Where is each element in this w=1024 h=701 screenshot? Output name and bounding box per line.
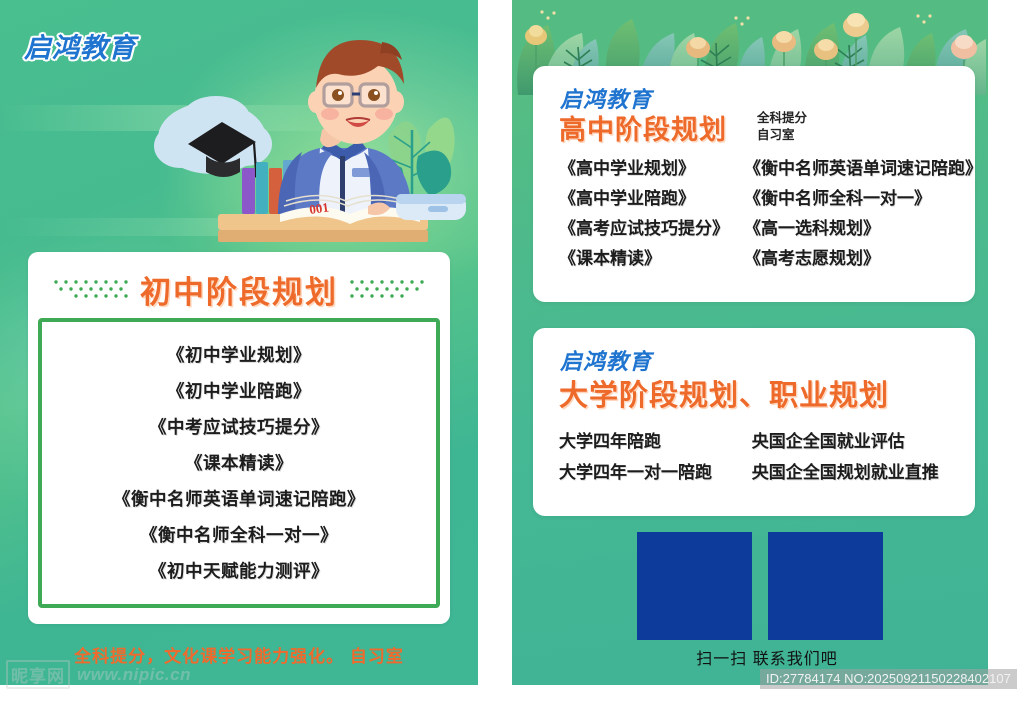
list-item: 《初中学业陪跑》 — [167, 374, 311, 408]
high-school-course-columns: 《高中学业规划》 《高中学业陪跑》 《高考应试技巧提分》 《课本精读》 《衡中名… — [559, 154, 959, 274]
left-poster-panel: 启鸿教育 — [0, 0, 478, 685]
list-item: 大学四年一对一陪跑 — [559, 457, 752, 488]
pencil-case-icon — [396, 194, 466, 220]
list-item: 《高中学业陪跑》 — [559, 184, 744, 214]
qr-code-1[interactable] — [637, 532, 752, 640]
list-item: 《初中天赋能力测评》 — [149, 554, 329, 588]
university-heading: 大学阶段规划、职业规划 — [559, 372, 889, 414]
watermark-mark: 昵享网 — [6, 660, 70, 689]
dots-decoration-right-icon — [348, 276, 426, 302]
list-item: 《高考应试技巧提分》 — [559, 214, 744, 244]
qr-code-2[interactable] — [768, 532, 883, 640]
student-illustration-svg: 001 — [150, 18, 478, 258]
list-item: 央国企全国规划就业直推 — [752, 457, 959, 488]
course-column-left: 大学四年陪跑 大学四年一对一陪跑 — [559, 426, 752, 488]
list-item: 《衡中名师全科一对一》 — [140, 518, 338, 552]
site-watermark: 昵享网 www.nipic.cn — [6, 660, 191, 689]
qr-caption: 扫一扫 联系我们吧 — [637, 645, 897, 669]
desk-edge — [218, 230, 428, 242]
list-item: 《衡中名师英语单词速记陪跑》 — [744, 154, 959, 184]
qr-code-group — [637, 532, 883, 640]
list-item: 《高中学业规划》 — [559, 154, 744, 184]
list-item: 央国企全国就业评估 — [752, 426, 959, 457]
svg-text:001: 001 — [308, 199, 329, 217]
list-item: 《衡中名师全科一对一》 — [744, 184, 959, 214]
course-column-left: 《高中学业规划》 《高中学业陪跑》 《高考应试技巧提分》 《课本精读》 — [559, 154, 744, 274]
brand-logo-text: 启鸿教育 — [24, 26, 136, 65]
list-item: 大学四年陪跑 — [559, 426, 752, 457]
university-card: 启鸿教育 大学阶段规划、职业规划 大学四年陪跑 大学四年一对一陪跑 央国企全国就… — [533, 328, 975, 516]
image-id-tag: ID:27784174 NO:20250921150228402107 — [760, 669, 1017, 689]
high-school-card: 启鸿教育 高中阶段规划 全科提分 自习室 《高中学业规划》 《高中学业陪跑》 《… — [533, 66, 975, 302]
high-school-heading: 高中阶段规划 — [559, 108, 727, 147]
poster-stage: 启鸿教育 — [0, 0, 1024, 701]
student-illustration: 001 — [150, 18, 478, 258]
junior-high-course-list: 《初中学业规划》 《初中学业陪跑》 《中考应试技巧提分》 《课本精读》 《衡中名… — [38, 318, 440, 608]
page-title: 初中阶段规划 — [140, 267, 338, 312]
dots-decoration-left-icon — [52, 276, 130, 302]
list-item: 《初中学业规划》 — [167, 338, 311, 372]
high-school-subtext: 全科提分 自习室 — [757, 110, 807, 144]
university-course-columns: 大学四年陪跑 大学四年一对一陪跑 央国企全国就业评估 央国企全国规划就业直推 — [559, 426, 959, 488]
list-item: 《高考志愿规划》 — [744, 244, 959, 274]
list-item: 《衡中名师英语单词速记陪跑》 — [113, 482, 365, 516]
list-item: 《课本精读》 — [185, 446, 293, 480]
list-item: 《高一选科规划》 — [744, 214, 959, 244]
course-column-right: 央国企全国就业评估 央国企全国规划就业直推 — [752, 426, 959, 488]
watermark-url: www.nipic.cn — [77, 665, 191, 685]
right-poster-panel: 启鸿教育 高中阶段规划 全科提分 自习室 《高中学业规划》 《高中学业陪跑》 《… — [512, 0, 988, 685]
subtext-line-1: 全科提分 — [757, 110, 807, 127]
list-item: 《课本精读》 — [559, 244, 744, 274]
course-column-right: 《衡中名师英语单词速记陪跑》 《衡中名师全科一对一》 《高一选科规划》 《高考志… — [744, 154, 959, 274]
junior-high-card: 初中阶段规划 《初中学业规划》 《初中学业陪跑》 《中考应试技巧提分》 《课本精… — [28, 252, 450, 624]
subtext-line-2: 自习室 — [757, 127, 807, 144]
list-item: 《中考应试技巧提分》 — [149, 410, 329, 444]
junior-high-title-row: 初中阶段规划 — [28, 266, 450, 312]
brand-logo-left: 启鸿教育 — [24, 26, 136, 65]
student-head — [308, 40, 404, 144]
